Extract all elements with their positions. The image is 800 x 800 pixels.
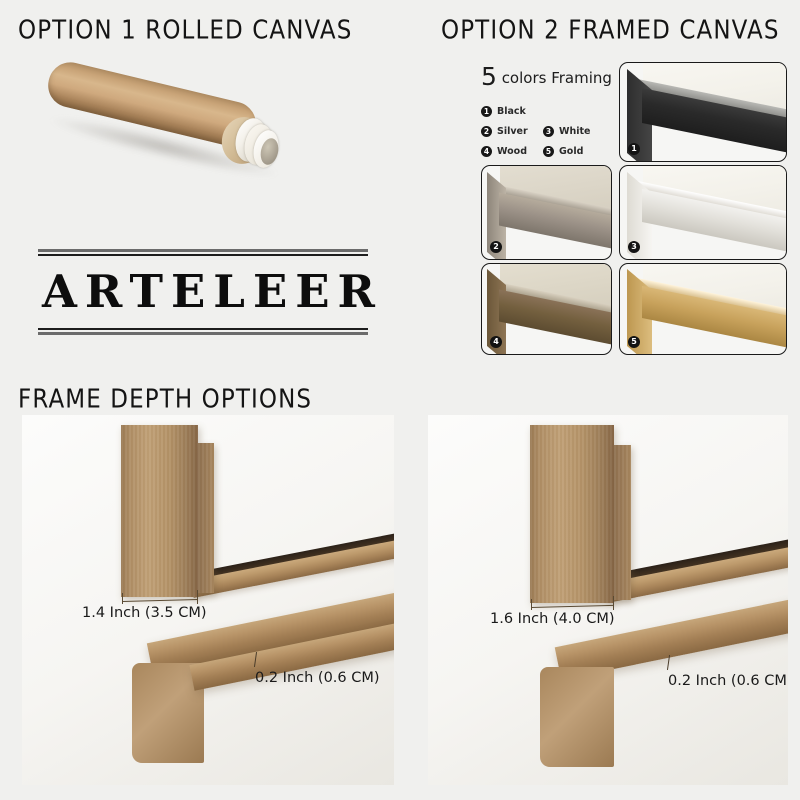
framing-legend-rows: 1 Black 2 Silver 3 White 4 Wood: [481, 106, 611, 157]
dimension-tick: [197, 590, 198, 604]
heading-option-1: OPTION 1 ROLLED CANVAS: [18, 16, 352, 45]
legend-row: 2 Silver 3 White: [481, 126, 611, 137]
framing-color-count: 5: [481, 62, 497, 91]
legend-row: 4 Wood 5 Gold: [481, 146, 611, 157]
frame-depth-bar-return: [614, 445, 631, 600]
dimension-tick: [613, 596, 614, 610]
number-badge-icon: 3: [543, 126, 554, 137]
dimension-label-thickness: 0.2 Inch (0.6 CM): [668, 673, 788, 689]
frame-depth-photo-right: 1.6 Inch (4.0 CM) 0.2 Inch (0.6 CM): [428, 415, 788, 785]
sample-number-badge-icon: 4: [490, 336, 502, 348]
dimension-label-depth: 1.6 Inch (4.0 CM): [490, 611, 615, 627]
frame-sample-wood[interactable]: 4: [481, 263, 612, 355]
sample-number-badge-icon: 2: [490, 241, 502, 253]
number-badge-icon: 1: [481, 106, 492, 117]
sample-number-badge-icon: 5: [628, 336, 640, 348]
brand-name: ARTELEER: [38, 256, 368, 328]
frame-sample-black[interactable]: 1: [619, 62, 787, 162]
sample-number-badge-icon: 1: [628, 143, 640, 155]
framing-legend: 5 colors Framing 1 Black 2 Silver 3 Whit…: [481, 64, 611, 166]
legend-label: Gold: [559, 146, 583, 157]
sample-number-badge-icon: 3: [628, 241, 640, 253]
brand-logo: ARTELEER: [38, 249, 368, 335]
legend-item-silver: 2 Silver: [481, 126, 543, 137]
frame-sample-silver[interactable]: 2: [481, 165, 612, 260]
frame-depth-bar: [530, 425, 614, 603]
number-badge-icon: 5: [543, 146, 554, 157]
frame-depth-bar: [121, 425, 198, 597]
product-infographic: OPTION 1 ROLLED CANVAS ARTELEER OPTION 2…: [0, 0, 800, 800]
legend-item-gold: 5 Gold: [543, 146, 605, 157]
logo-rule-top: [38, 249, 368, 256]
legend-label: Silver: [497, 126, 528, 137]
heading-frame-depth: FRAME DEPTH OPTIONS: [18, 385, 312, 414]
frame-sample-gold[interactable]: 5: [619, 263, 787, 355]
legend-row: 1 Black: [481, 106, 611, 117]
rolled-canvas-image: [40, 62, 300, 197]
framing-legend-title: 5 colors Framing: [481, 64, 611, 89]
dimension-label-depth: 1.4 Inch (3.5 CM): [82, 605, 207, 621]
legend-label: Wood: [497, 146, 527, 157]
heading-option-2: OPTION 2 FRAMED CANVAS: [441, 16, 780, 45]
legend-label: White: [559, 126, 590, 137]
dimension-label-thickness: 0.2 Inch (0.6 CM): [255, 670, 380, 686]
frame-depth-photo-left: 1.4 Inch (3.5 CM) 0.2 Inch (0.6 CM): [22, 415, 394, 785]
frame-thickness-bar-end: [540, 667, 614, 767]
legend-item-black: 1 Black: [481, 106, 543, 117]
framing-legend-title-text: colors Framing: [502, 69, 612, 87]
dimension-tick: [122, 593, 123, 604]
legend-label: Black: [497, 106, 526, 117]
dimension-tick: [531, 599, 532, 610]
legend-item-wood: 4 Wood: [481, 146, 543, 157]
frame-depth-bar-return: [198, 443, 214, 593]
legend-item-white: 3 White: [543, 126, 605, 137]
logo-rule-bottom: [38, 328, 368, 335]
number-badge-icon: 2: [481, 126, 492, 137]
frame-sample-white[interactable]: 3: [619, 165, 787, 260]
number-badge-icon: 4: [481, 146, 492, 157]
